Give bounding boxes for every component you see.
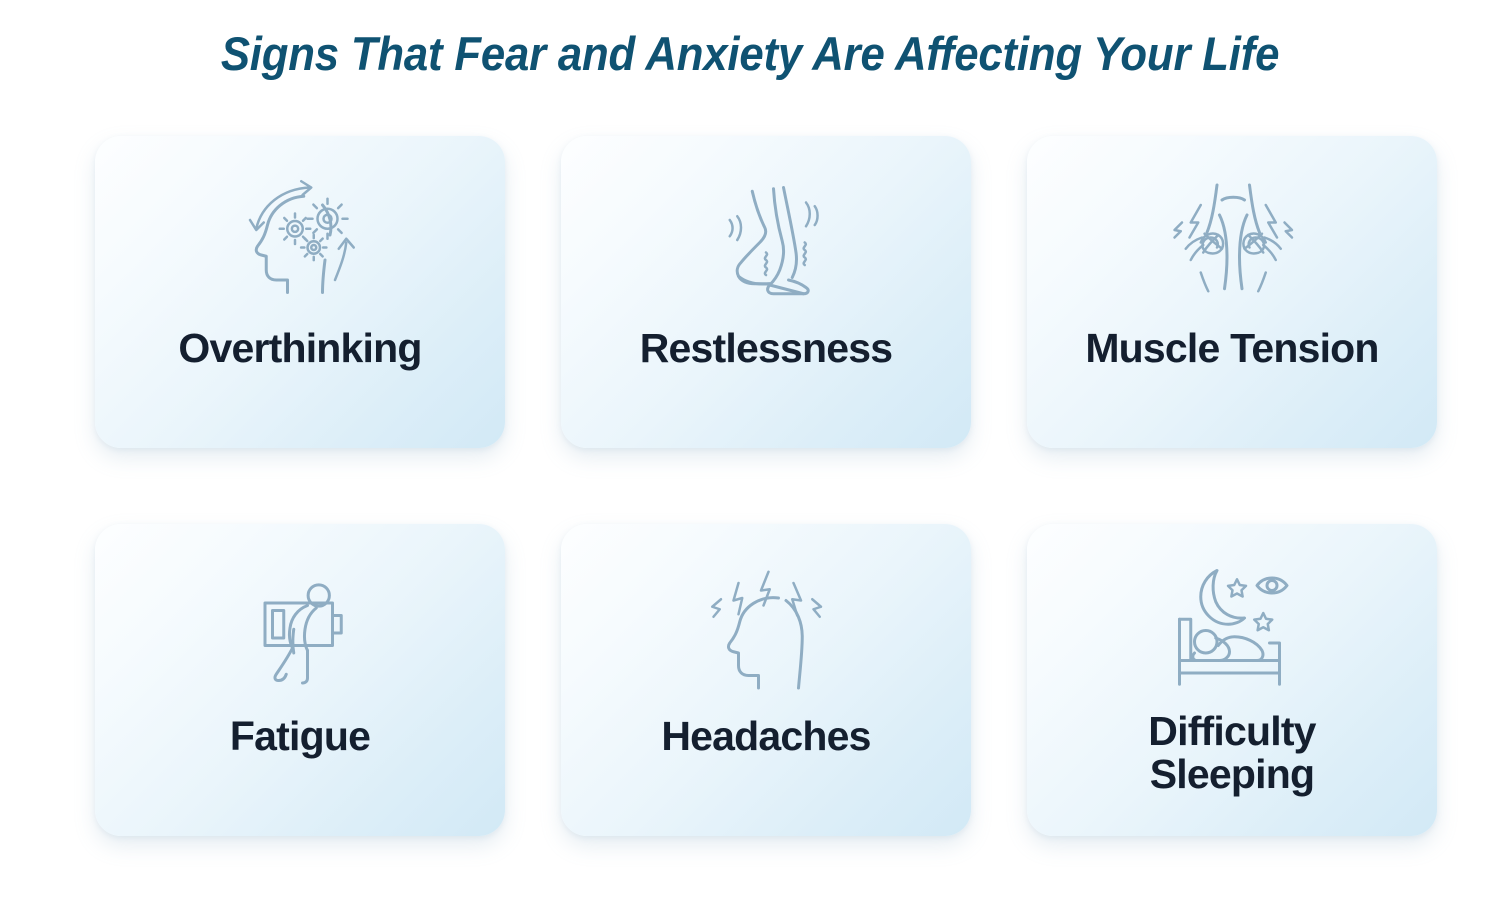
symptom-card-headaches[interactable]: Headaches [561, 524, 971, 836]
head-lightning-icon [691, 558, 841, 708]
symptom-card-grid: Overthinking [95, 136, 1437, 836]
card-label: Muscle Tension [1027, 326, 1437, 370]
page-title-container: Signs That Fear and Anxiety Are Affectin… [0, 26, 1500, 81]
symptom-card-fatigue[interactable]: Fatigue [95, 524, 505, 836]
infographic-page: Signs That Fear and Anxiety Are Affectin… [0, 0, 1500, 900]
symptom-card-overthinking[interactable]: Overthinking [95, 136, 505, 448]
card-label-line-2: Sleeping [1045, 753, 1419, 796]
page-title: Signs That Fear and Anxiety Are Affectin… [221, 26, 1279, 81]
symptom-card-restlessness[interactable]: Restlessness [561, 136, 971, 448]
insomnia-bed-moon-icon [1157, 558, 1307, 708]
card-label: Restlessness [561, 326, 971, 370]
card-label-line-1: Difficulty [1045, 710, 1419, 753]
card-label: Overthinking [95, 326, 505, 370]
tense-shoulders-icon [1157, 170, 1307, 320]
symptom-card-muscle-tension[interactable]: Muscle Tension [1027, 136, 1437, 448]
tired-person-battery-icon [225, 558, 375, 708]
head-gears-icon [225, 170, 375, 320]
card-label: Fatigue [95, 714, 505, 758]
symptom-card-difficulty-sleeping[interactable]: Difficulty Sleeping [1027, 524, 1437, 836]
card-label: Headaches [561, 714, 971, 758]
card-label: Difficulty Sleeping [1027, 710, 1437, 797]
restless-legs-icon [691, 170, 841, 320]
